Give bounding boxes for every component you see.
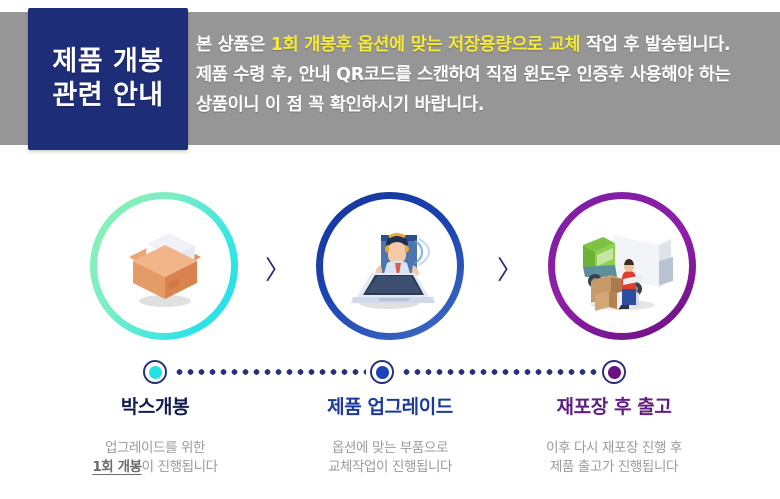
step-1-desc-line-1: 업그레이드를 위한 (35, 439, 275, 458)
step-2-circle (316, 192, 464, 340)
notice-badge-line-2: 관련 안내 (52, 81, 163, 112)
progress-dotted-line-2 (401, 369, 599, 375)
step-2-desc-line-2: 교체작업이 진행됩니다 (270, 458, 510, 477)
step-icons-row: 〉 (0, 192, 780, 340)
progress-dot-step-1-fill (149, 366, 162, 379)
progress-dot-step-1 (143, 360, 167, 384)
step-3-desc-line-1: 이후 다시 재포장 진행 후 (494, 439, 734, 458)
progress-dot-step-2-fill (376, 366, 389, 379)
step-progress-track (0, 360, 780, 386)
notice-line-1-suffix: 작업 후 발송됩니다. (580, 35, 730, 55)
step-1-caption: 박스개봉 업그레이드를 위한 1회 개봉이 진행됩니다 (35, 392, 275, 477)
step-3-desc-line-2: 제품 출고가 진행됩니다 (494, 458, 734, 477)
open-box-icon (109, 211, 219, 321)
step-3-circle (548, 192, 696, 340)
notice-line-2: 제품 수령 후, 안내 QR코드를 스캔하여 직접 윈도우 인증후 사용해야 하… (196, 60, 771, 90)
chevron-separator-2-icon: 〉 (497, 250, 523, 287)
step-2-caption: 제품 업그레이드 옵션에 맞는 부품으로 교체작업이 진행됩니다 (270, 392, 510, 477)
chevron-separator-1-icon: 〉 (265, 250, 291, 287)
notice-line-1-prefix: 본 상품은 (196, 35, 271, 55)
step-1-desc-line-2: 1회 개봉이 진행됩니다 (35, 458, 275, 477)
notice-badge: 제품 개봉 관련 안내 (28, 8, 188, 150)
notice-line-1-highlight: 1회 개봉후 옵션에 맞는 저장용량으로 교체 (271, 35, 580, 55)
step-1-desc-rest: 이 진행됩니다 (142, 459, 218, 475)
notice-line-1: 본 상품은 1회 개봉후 옵션에 맞는 저장용량으로 교체 작업 후 발송됩니다… (196, 30, 771, 60)
step-3-caption: 재포장 후 출고 이후 다시 재포장 진행 후 제품 출고가 진행됩니다 (494, 392, 734, 477)
notice-badge-line-1: 제품 개봉 (52, 47, 163, 78)
step-3-title: 재포장 후 출고 (494, 392, 734, 419)
step-1-circle (90, 192, 238, 340)
laptop-support-technician-icon (335, 211, 445, 321)
progress-dotted-line-1 (174, 369, 366, 375)
notice-text-block: 본 상품은 1회 개봉후 옵션에 맞는 저장용량으로 교체 작업 후 발송됩니다… (196, 30, 771, 120)
delivery-truck-icon (567, 211, 677, 321)
progress-dot-step-3-fill (608, 366, 621, 379)
step-1-desc-emphasis: 1회 개봉 (92, 459, 141, 475)
step-2-title: 제품 업그레이드 (270, 392, 510, 419)
notice-line-3: 상품이니 이 점 꼭 확인하시기 바랍니다. (196, 90, 771, 120)
step-2-desc-line-1: 옵션에 맞는 부품으로 (270, 439, 510, 458)
product-unboxing-notice-page: 제품 개봉 관련 안내 본 상품은 1회 개봉후 옵션에 맞는 저장용량으로 교… (0, 0, 780, 499)
step-1-title: 박스개봉 (35, 392, 275, 419)
progress-dot-step-3 (602, 360, 626, 384)
progress-dot-step-2 (370, 360, 394, 384)
